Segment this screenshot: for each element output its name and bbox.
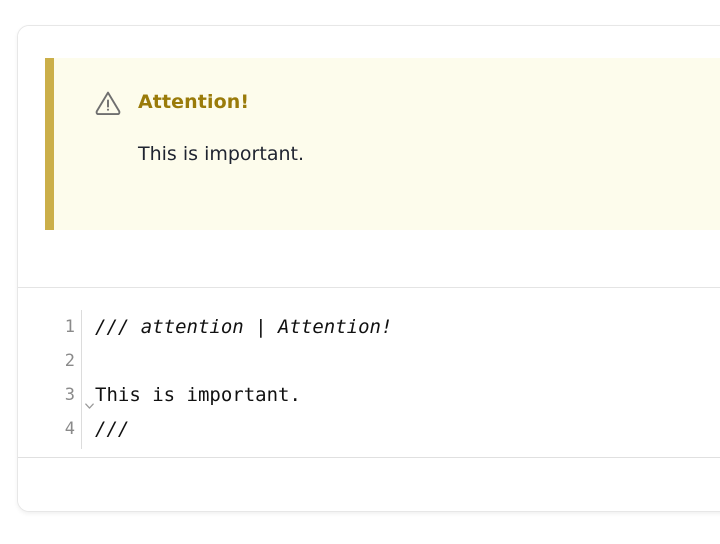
line-number[interactable]: 2 <box>18 344 81 378</box>
card-footer <box>18 458 720 511</box>
code-line[interactable]: This is important. <box>95 378 720 412</box>
code-line[interactable]: /// <box>95 412 720 446</box>
callout-title: Attention! <box>138 88 249 116</box>
line-number[interactable]: 3 <box>18 378 81 412</box>
chevron-down-icon[interactable] <box>84 390 95 401</box>
line-number[interactable]: 1 <box>18 310 81 344</box>
code-editor: 1 2 3 4 /// attention | Attention! This … <box>18 288 720 457</box>
preview-card: Attention! This is important. 1 2 3 <box>17 25 720 512</box>
callout-title-row: Attention! <box>94 88 720 116</box>
screenshot-root: Attention! This is important. 1 2 3 <box>0 0 720 544</box>
code-text-area[interactable]: /// attention | Attention! This is impor… <box>82 288 720 457</box>
attention-callout: Attention! This is important. <box>45 58 720 230</box>
code-line[interactable]: /// attention | Attention! <box>95 310 720 344</box>
callout-body: Attention! This is important. <box>54 58 720 168</box>
rendered-preview-region: Attention! This is important. <box>18 26 720 287</box>
code-line[interactable] <box>95 344 720 378</box>
callout-accent-bar <box>45 58 54 230</box>
callout-text: This is important. <box>138 140 720 168</box>
line-number[interactable]: 4 <box>18 412 81 446</box>
warning-triangle-icon <box>94 88 122 116</box>
line-number-gutter: 1 2 3 4 <box>18 288 81 457</box>
